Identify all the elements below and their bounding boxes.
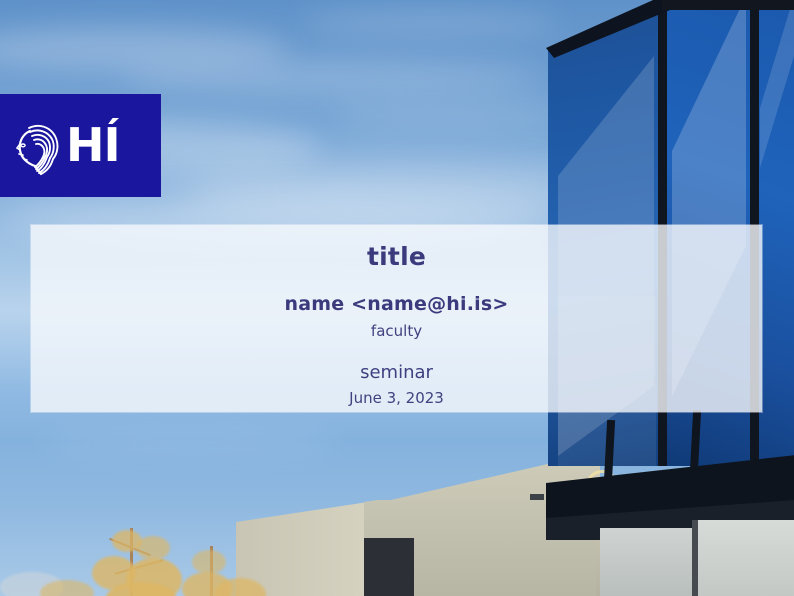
roof-edge-beam bbox=[662, 0, 794, 10]
cloud bbox=[330, 100, 560, 130]
concrete-building-front bbox=[236, 500, 596, 596]
university-logo-block[interactable]: HÍ bbox=[0, 94, 161, 197]
title-panel: title name <name@hi.is> faculty seminar … bbox=[31, 225, 762, 412]
shadow-recess bbox=[364, 538, 414, 596]
logo-wordmark: HÍ bbox=[66, 122, 120, 168]
tree bbox=[0, 560, 90, 596]
event-name: seminar bbox=[31, 362, 762, 383]
foliage bbox=[192, 550, 226, 574]
lady-of-the-mountain-head-profile-icon bbox=[8, 111, 64, 181]
cloud bbox=[120, 60, 540, 94]
foliage bbox=[40, 580, 94, 596]
cloud bbox=[40, 430, 340, 454]
presentation-date: June 3, 2023 bbox=[31, 389, 762, 407]
wall-panel bbox=[698, 520, 794, 596]
author-name: name <name@hi.is> bbox=[31, 293, 762, 315]
institute-name: faculty bbox=[31, 322, 762, 340]
wall-panel bbox=[600, 528, 692, 596]
foliage bbox=[136, 536, 170, 560]
slide-title: title bbox=[31, 242, 762, 271]
title-slide: HÍ title name <name@hi.is> faculty semin… bbox=[0, 0, 794, 596]
cloud bbox=[300, 10, 560, 36]
tree bbox=[168, 536, 278, 596]
